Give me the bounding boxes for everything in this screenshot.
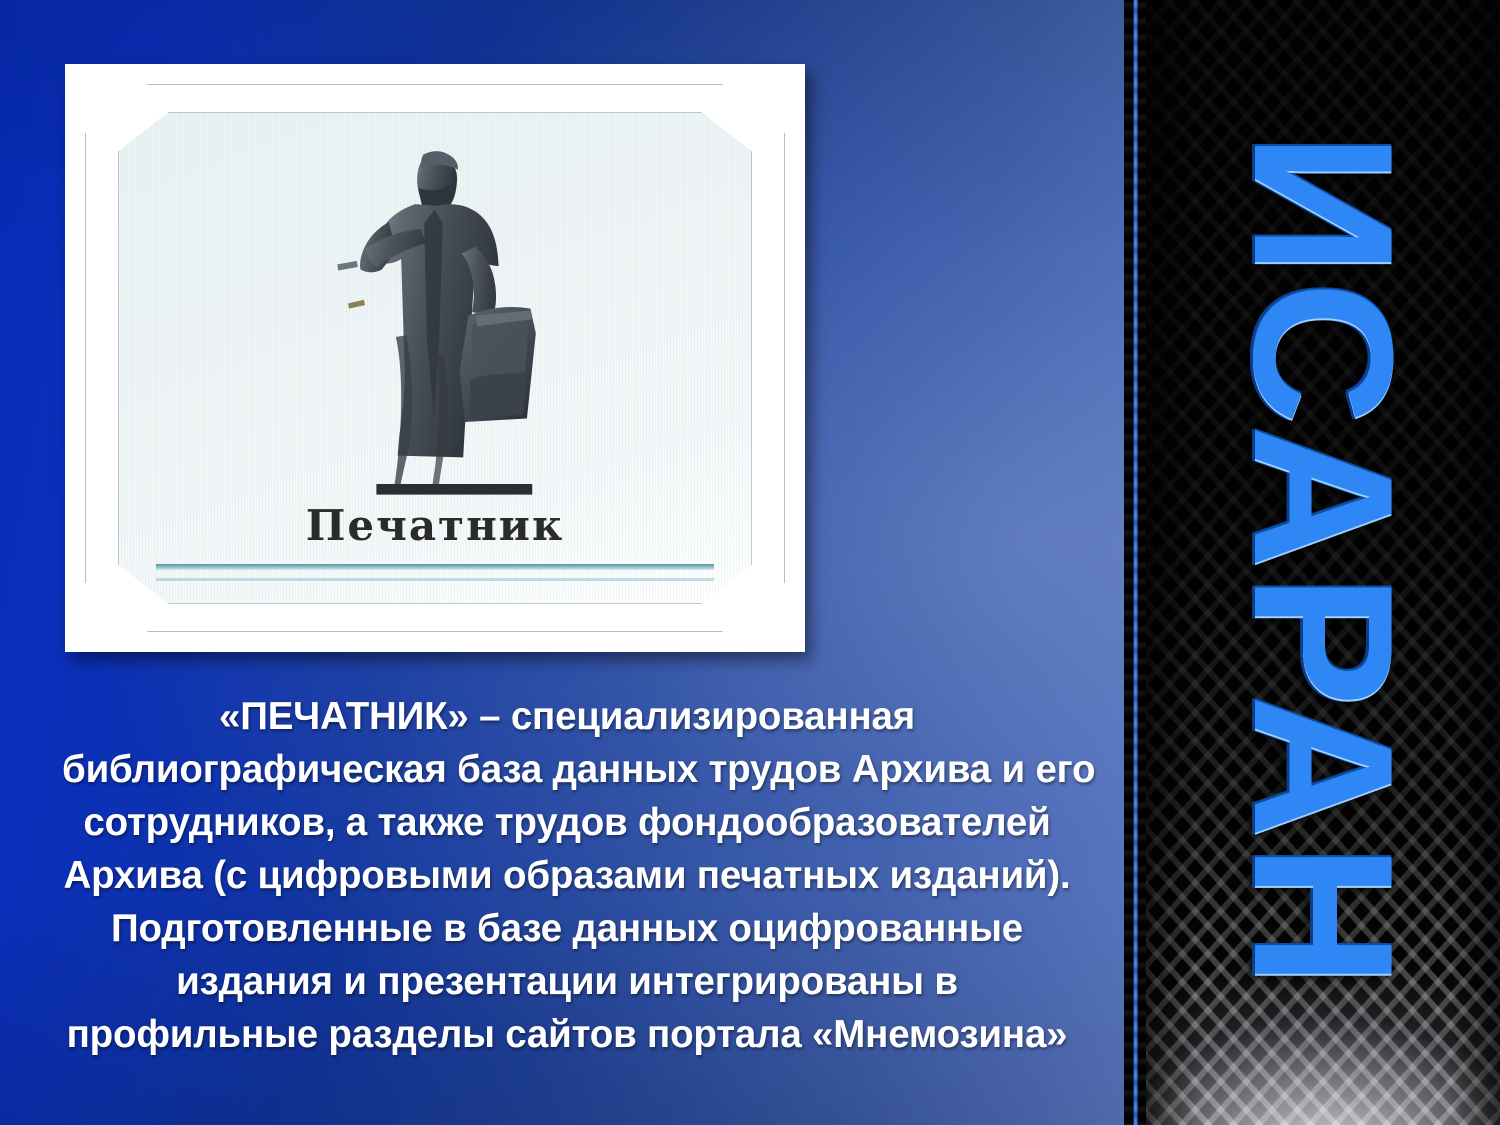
picture-caption: Печатник — [118, 501, 752, 550]
body-line: издания и презентации интегрированы в — [62, 955, 1072, 1008]
statue-illustration — [118, 151, 752, 505]
picture-frame: Печатник — [65, 64, 805, 652]
slide-body-text: «ПЕЧАТНИК» – специализированная библиогр… — [62, 690, 1072, 1061]
sidebar-logotype: ИСАРАН — [1224, 132, 1422, 992]
sidebar-logotype-container: ИСАРАН — [1146, 0, 1500, 1125]
body-line: сотрудников, а также трудов фондообразов… — [62, 796, 1072, 849]
body-line: профильные разделы сайтов портала «Мнемо… — [62, 1008, 1072, 1061]
presentation-slide: Печатник «ПЕЧАТНИК» – специализированная… — [0, 0, 1500, 1125]
body-line: «ПЕЧАТНИК» – специализированная — [62, 690, 1072, 743]
body-line: Архива (с цифровыми образами печатных из… — [62, 849, 1072, 902]
picture-image-area: Печатник — [118, 112, 752, 604]
caption-rule-primary — [156, 564, 714, 570]
picture-mat: Печатник — [85, 84, 785, 632]
statue-icon — [302, 151, 568, 505]
caption-rule-secondary — [156, 578, 714, 581]
body-line: Подготовленные в базе данных оцифрованны… — [62, 902, 1072, 955]
body-line: библиографическая база данных трудов Арх… — [62, 743, 1072, 796]
vertical-accent-divider — [1124, 0, 1146, 1125]
